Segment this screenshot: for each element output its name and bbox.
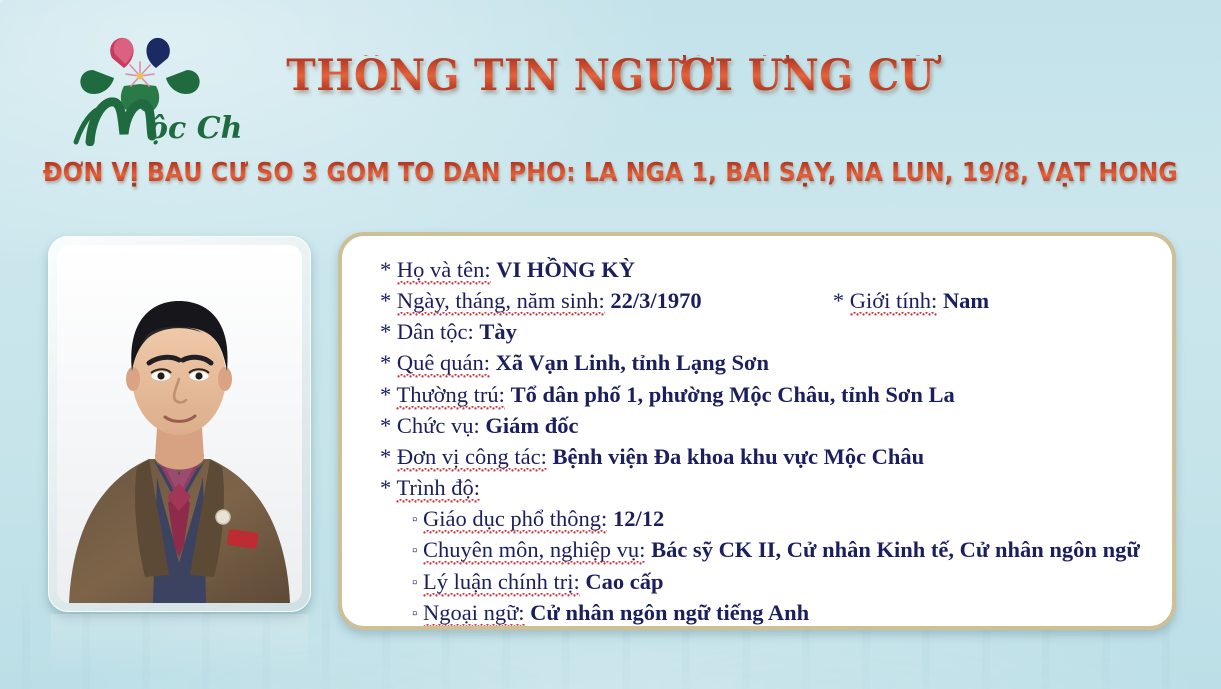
field-label: Lý luận chính trị: <box>423 569 580 597</box>
field-value: Cao cấp <box>585 569 663 594</box>
bullet-star: * <box>380 319 391 344</box>
bullet-star: * <box>380 413 391 438</box>
field-full-name: * Họ và tên: VI HỒNG KỲ <box>380 254 1152 285</box>
field-label: Giáo dục phổ thông: <box>423 506 607 534</box>
bullet-star: * <box>380 382 391 407</box>
field-value: Xã Vạn Linh, tỉnh Lạng Sơn <box>496 350 769 375</box>
field-residence: * Thường trú: Tổ dân phố 1, phường Mộc C… <box>380 379 1152 410</box>
photo-reflection <box>48 614 311 684</box>
field-label: Ngoại ngữ: <box>423 600 525 628</box>
sub-bullet-square: ▫ <box>412 510 417 531</box>
field-label: Họ và tên: <box>397 257 491 285</box>
bullet-star: * <box>380 350 391 375</box>
field-hometown: * Quê quán: Xã Vạn Linh, tỉnh Lạng Sơn <box>380 347 1152 378</box>
field-ethnicity: * Dân tộc: Tày <box>380 316 1152 347</box>
gender-label: Giới tính: <box>850 288 938 316</box>
photo-frame-border <box>48 236 311 612</box>
field-value: Cử nhân ngôn ngữ tiếng Anh <box>530 600 809 625</box>
logo-wordmark: ộc Châu <box>148 111 242 146</box>
bullet-star: * <box>380 288 391 313</box>
field-value: Tổ dân phố 1, phường Mộc Châu, tỉnh Sơn … <box>511 382 955 407</box>
field-label: Quê quán: <box>397 350 490 378</box>
field-value: Bác sỹ CK II, Cử nhân Kinh tế, Cử nhân n… <box>651 537 1140 562</box>
bullet-star: * <box>380 444 391 469</box>
field-value: Bệnh viện Đa khoa khu vực Mộc Châu <box>553 444 925 469</box>
candidate-portrait <box>57 245 302 603</box>
field-label: Đơn vị công tác: <box>397 444 547 472</box>
candidate-photo-frame <box>48 236 311 612</box>
page-subtitle: ĐƠN VỊ BẦU CỬ SỐ 3 GỒM TỔ DÂN PHỐ: LÀ NG… <box>43 161 1179 187</box>
bullet-star: * <box>380 475 391 500</box>
field-value: VI HỒNG KỲ <box>496 257 635 282</box>
field-party-membership: * Đảng viên Đảng cộng sản Việt Nam <box>380 628 1152 630</box>
field-label: Trình độ: <box>396 475 480 503</box>
field-label: Thường trú: <box>396 382 504 410</box>
bullet-star: * <box>833 288 844 313</box>
field-label: Dân tộc: <box>397 319 474 344</box>
sub-bullet-square: ▫ <box>412 541 417 562</box>
field-political-theory: ▫ Lý luận chính trị: Cao cấp <box>380 566 1152 597</box>
field-value: 12/12 <box>613 506 664 531</box>
field-value: 22/3/1970 <box>610 288 701 313</box>
slide-root: ộc Châu THÔNG TIN NGƯỜI ỨNG CỬ ĐƠN VỊ BẦ… <box>0 0 1221 689</box>
field-workplace: * Đơn vị công tác: Bệnh viện Đa khoa khu… <box>380 441 1152 472</box>
candidate-info-list: * Họ và tên: VI HỒNG KỲ * Ngày, tháng, n… <box>342 236 1172 626</box>
field-position: * Chức vụ: Giám đốc <box>380 410 1152 441</box>
page-title: THÔNG TIN NGƯỜI ỨNG CỬ <box>49 55 1172 98</box>
field-foreign-language: ▫ Ngoại ngữ: Cử nhân ngôn ngữ tiếng Anh <box>380 597 1152 628</box>
sub-bullet-square: ▫ <box>412 604 417 625</box>
field-label: Ngày, tháng, năm sinh: <box>397 288 605 316</box>
field-label: Chuyên môn, nghiệp vụ: <box>423 537 645 565</box>
field-label: Chức vụ: <box>397 413 480 438</box>
bullet-star: * <box>380 257 391 282</box>
candidate-info-card: * Họ và tên: VI HỒNG KỲ * Ngày, tháng, n… <box>338 232 1176 630</box>
field-qualifications-heading: * Trình độ: <box>380 472 1152 503</box>
field-value: Tày <box>479 319 517 344</box>
gender-value: Nam <box>943 288 989 313</box>
field-general-education: ▫ Giáo dục phổ thông: 12/12 <box>380 503 1152 534</box>
sub-bullet-square: ▫ <box>412 573 417 594</box>
field-value: Giám đốc <box>485 413 578 438</box>
field-birthdate-and-gender: * Ngày, tháng, năm sinh: 22/3/1970 * Giớ… <box>380 285 1152 316</box>
field-professional-qualification: ▫ Chuyên môn, nghiệp vụ: Bác sỹ CK II, C… <box>380 534 1152 565</box>
